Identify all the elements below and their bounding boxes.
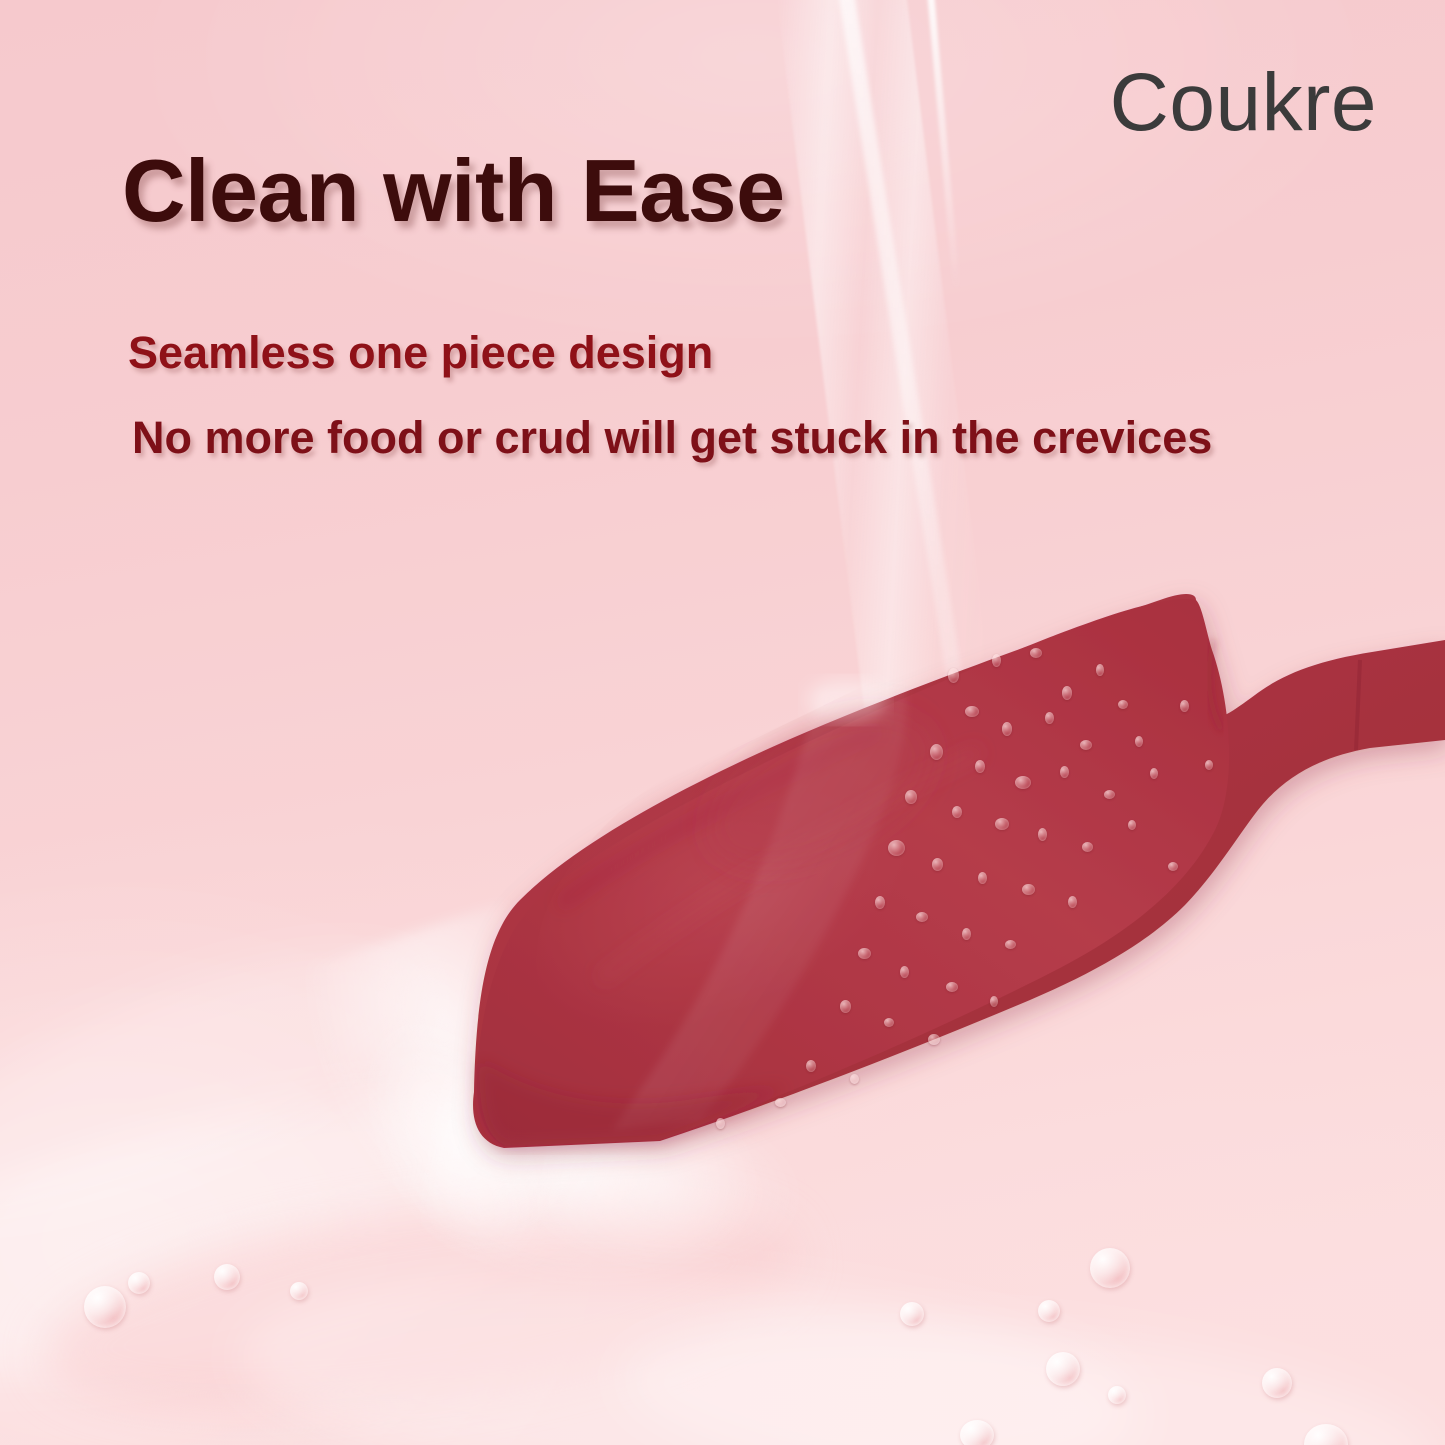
subheading-two: No more food or crud will get stuck in t…: [132, 412, 1212, 464]
subheading-one: Seamless one piece design: [128, 327, 713, 379]
brand-logo-text: Coukre: [1110, 56, 1377, 150]
headline: Clean with Ease: [122, 140, 785, 242]
product-marketing-image: Coukre Clean with Ease Seamless one piec…: [0, 0, 1445, 1445]
